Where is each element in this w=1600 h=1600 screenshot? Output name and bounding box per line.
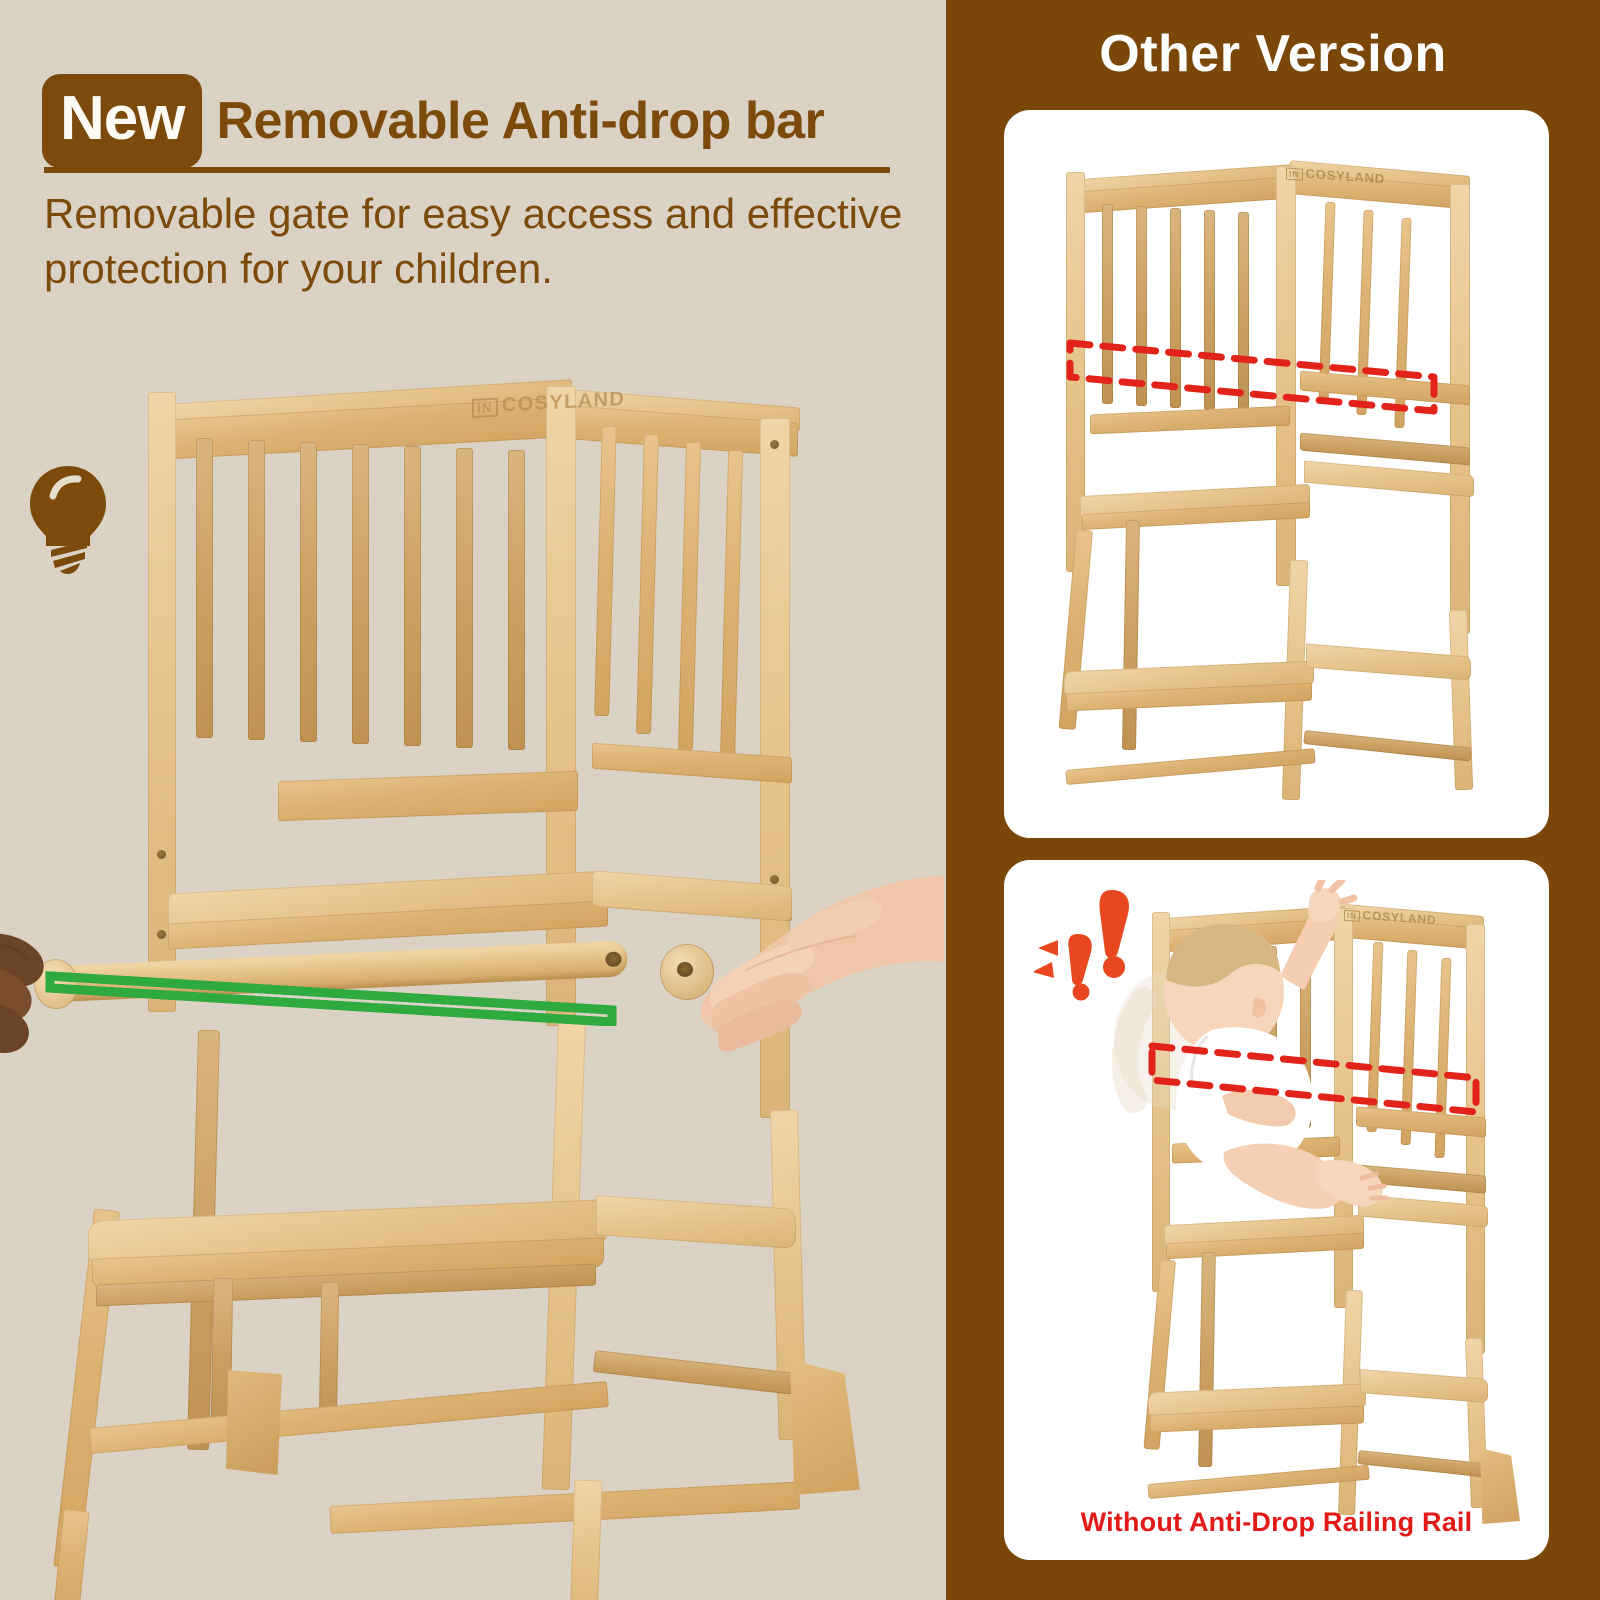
other-version-card-top: INCOSYLAND — [1004, 110, 1549, 838]
new-badge: New — [42, 74, 202, 168]
exclamation-marks-icon — [1034, 882, 1164, 1002]
stabilizer-foot-left — [226, 1370, 282, 1475]
right-hand-holding-knob — [686, 870, 946, 1090]
other-version-title: Other Version — [946, 28, 1600, 80]
left-hand-holding-bar — [0, 926, 102, 1056]
baby-falling-illustration: INCOSYLAND Without Anti-Drop Railing Rai… — [1004, 860, 1549, 1560]
headline-title: Removable Anti-drop bar — [216, 91, 824, 151]
stabilizer-foot — [790, 1360, 860, 1495]
tower-without-bar-illustration: INCOSYLAND — [1004, 110, 1549, 838]
without-rail-caption: Without Anti-Drop Railing Rail — [1004, 1507, 1549, 1538]
subtitle-text: Removable gate for easy access and effec… — [44, 186, 914, 297]
other-version-card-bottom: INCOSYLAND Without Anti-Drop Railing Rai… — [1004, 860, 1549, 1560]
title-divider — [44, 167, 890, 173]
headline-group: New Removable Anti-drop bar — [42, 74, 824, 168]
product-marketing-image: New Removable Anti-drop bar Removable ga… — [0, 0, 1600, 1600]
main-product-illustration: INCOSYLAND — [0, 330, 946, 1600]
removable-anti-drop-bar[interactable] — [57, 940, 628, 1002]
